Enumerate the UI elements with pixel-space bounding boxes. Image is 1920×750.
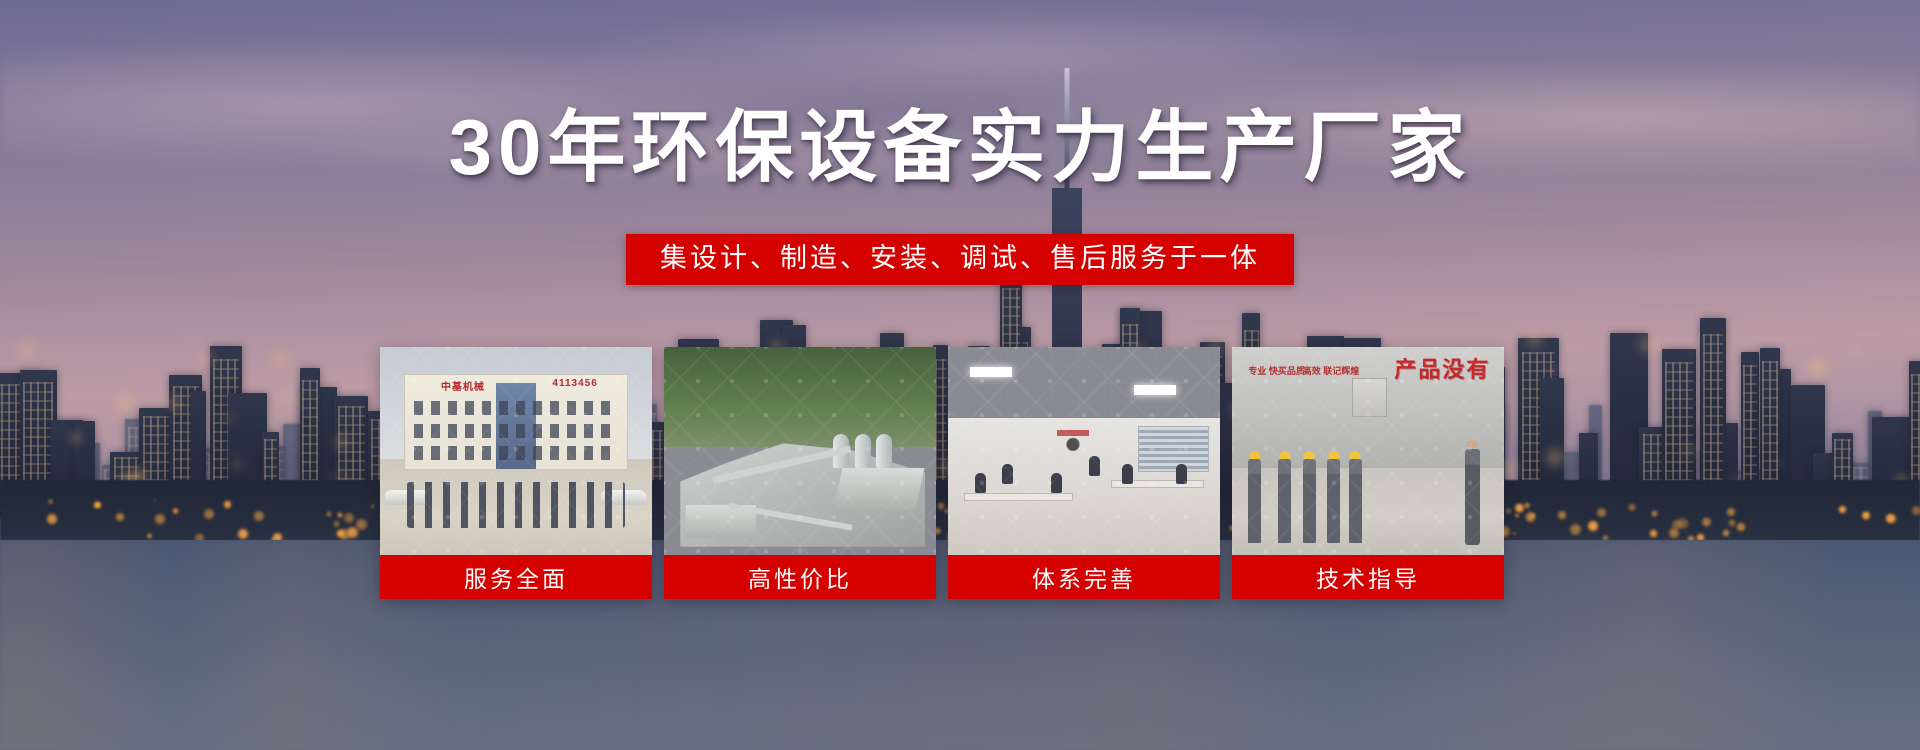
- thumb4-yard: [1232, 468, 1504, 555]
- thumb3-window-blinds: [1138, 426, 1209, 472]
- thumb1-window-row: [414, 401, 617, 415]
- thumb3-desk: [964, 493, 1073, 501]
- card-caption: 高性价比: [664, 555, 936, 599]
- thumb2-green-fields: [664, 347, 936, 447]
- thumb4-factory-door: [1352, 378, 1387, 417]
- feature-card[interactable]: 体系完善: [948, 347, 1220, 599]
- thumb4-worker: [1327, 459, 1340, 542]
- thumb4-supervisor: [1465, 449, 1480, 545]
- thumb4-worker: [1349, 459, 1362, 542]
- card-caption: 服务全面: [380, 555, 652, 599]
- thumb3-ceiling: [948, 347, 1220, 418]
- thumb4-worker: [1278, 459, 1291, 542]
- thumb4-worker: [1248, 459, 1261, 542]
- thumb1-company-sign: 中基机械: [441, 378, 485, 393]
- card-thumbnail-workshop-workers: 产品没有 专业 快买品质 高效 联记辉煌: [1232, 347, 1504, 555]
- banner-subtitle-bar: 集设计、制造、安装、调试、售后服务于一体: [626, 234, 1294, 285]
- thumb1-phone-number: 4113456: [552, 378, 597, 389]
- card-caption: 体系完善: [948, 555, 1220, 599]
- thumb2-silo: [876, 434, 892, 468]
- feature-card[interactable]: 中基机械 4113456 服务全面: [380, 347, 652, 599]
- thumb4-factory-facade: 产品没有 专业 快买品质 高效 联记辉煌: [1232, 347, 1504, 468]
- card-thumbnail-aerial-plant: [664, 347, 936, 555]
- thumb4-slogan-mid: 高效 联记辉煌: [1303, 366, 1360, 377]
- thumb4-factory-banner-text: 产品没有: [1394, 352, 1490, 384]
- feature-card[interactable]: 产品没有 专业 快买品质 高效 联记辉煌 技术指导: [1232, 347, 1504, 599]
- banner-headline: 30年环保设备实力生产厂家: [0, 108, 1920, 186]
- card-thumbnail-office-room: [948, 347, 1220, 555]
- thumb3-person: [1122, 464, 1133, 484]
- thumb1-building: 中基机械 4113456: [404, 374, 627, 470]
- thumb3-ceiling-light: [970, 367, 1012, 377]
- thumb4-worker: [1303, 459, 1316, 542]
- thumb4-slogan-left: 专业 快买品质: [1248, 366, 1305, 377]
- thumb1-window-row: [414, 424, 617, 438]
- thumb2-shed: [834, 468, 924, 510]
- thumb2-silo: [855, 434, 871, 468]
- thumb1-staff-line: [407, 482, 625, 528]
- thumb3-person: [975, 473, 986, 493]
- thumb3-person: [1089, 456, 1100, 476]
- thumb3-person: [1002, 464, 1013, 484]
- thumb3-wall-decal: [1057, 430, 1089, 454]
- thumb3-person: [1051, 473, 1062, 493]
- thumb1-window-row: [414, 446, 617, 460]
- hero-banner: 30年环保设备实力生产厂家 集设计、制造、安装、调试、售后服务于一体 中基机械 …: [0, 0, 1920, 750]
- thumb3-person: [1176, 464, 1187, 484]
- card-thumbnail-office-building: 中基机械 4113456: [380, 347, 652, 555]
- thumb3-ceiling-light: [1134, 385, 1176, 395]
- banner-content: 30年环保设备实力生产厂家 集设计、制造、安装、调试、售后服务于一体 中基机械 …: [0, 0, 1920, 750]
- feature-card[interactable]: 高性价比: [664, 347, 936, 599]
- card-caption: 技术指导: [1232, 555, 1504, 599]
- feature-card-list: 中基机械 4113456 服务全面: [380, 347, 1540, 599]
